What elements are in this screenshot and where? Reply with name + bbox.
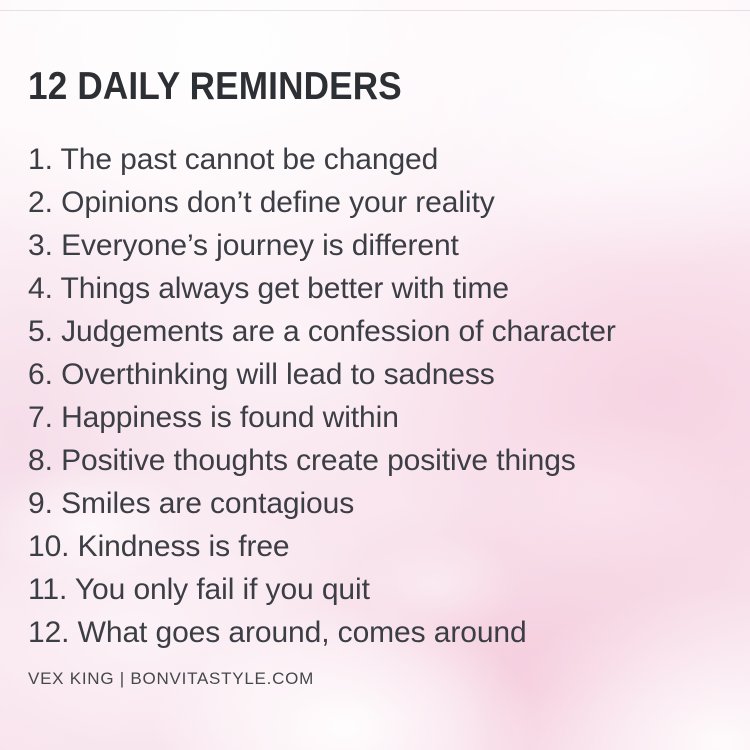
list-item-number: 9. bbox=[28, 487, 53, 520]
list-item: 1. The past cannot be changed bbox=[28, 138, 728, 181]
list-item: 11. You only fail if you quit bbox=[28, 568, 728, 611]
list-item-text: Positive thoughts create positive things bbox=[61, 444, 576, 477]
list-item: 5. Judgements are a confession of charac… bbox=[28, 310, 728, 353]
list-item-number: 12. bbox=[28, 616, 69, 649]
background-seam-line bbox=[0, 10, 750, 11]
list-item: 7. Happiness is found within bbox=[28, 396, 728, 439]
list-item: 4. Things always get better with time bbox=[28, 267, 728, 310]
list-item-text: Happiness is found within bbox=[61, 401, 399, 434]
list-item: 9. Smiles are contagious bbox=[28, 482, 728, 525]
quote-card: 12 DAILY REMINDERS 1. The past cannot be… bbox=[0, 0, 750, 750]
reminder-list: 1. The past cannot be changed2. Opinions… bbox=[28, 138, 728, 654]
list-item-text: Things always get better with time bbox=[61, 272, 509, 305]
list-item-number: 10. bbox=[28, 530, 69, 563]
list-item-number: 4. bbox=[28, 272, 53, 305]
page-title: 12 DAILY REMINDERS bbox=[28, 64, 402, 110]
list-item-text: Opinions don’t define your reality bbox=[61, 186, 495, 219]
list-item-number: 5. bbox=[28, 315, 53, 348]
list-item: 12. What goes around, comes around bbox=[28, 611, 728, 654]
list-item-text: Smiles are contagious bbox=[61, 487, 354, 520]
list-item: 2. Opinions don’t define your reality bbox=[28, 181, 728, 224]
list-item-number: 7. bbox=[28, 401, 53, 434]
list-item-text: Overthinking will lead to sadness bbox=[61, 358, 495, 391]
list-item-number: 11. bbox=[28, 573, 67, 606]
list-item-text: Everyone’s journey is different bbox=[61, 229, 459, 262]
list-item-text: Kindness is free bbox=[78, 530, 290, 563]
list-item: 8. Positive thoughts create positive thi… bbox=[28, 439, 728, 482]
list-item-number: 8. bbox=[28, 444, 53, 477]
list-item-text: The past cannot be changed bbox=[61, 143, 439, 176]
list-item: 3. Everyone’s journey is different bbox=[28, 224, 728, 267]
list-item: 10. Kindness is free bbox=[28, 525, 728, 568]
list-item-number: 3. bbox=[28, 229, 53, 262]
list-item-text: What goes around, comes around bbox=[78, 616, 527, 649]
list-item: 6. Overthinking will lead to sadness bbox=[28, 353, 728, 396]
list-item-number: 2. bbox=[28, 186, 53, 219]
list-item-number: 6. bbox=[28, 358, 53, 391]
list-item-text: Judgements are a confession of character bbox=[61, 315, 616, 348]
attribution-credit: VEX KING | BONVITASTYLE.COM bbox=[28, 668, 314, 690]
list-item-number: 1. bbox=[28, 143, 53, 176]
list-item-text: You only fail if you quit bbox=[75, 573, 370, 606]
